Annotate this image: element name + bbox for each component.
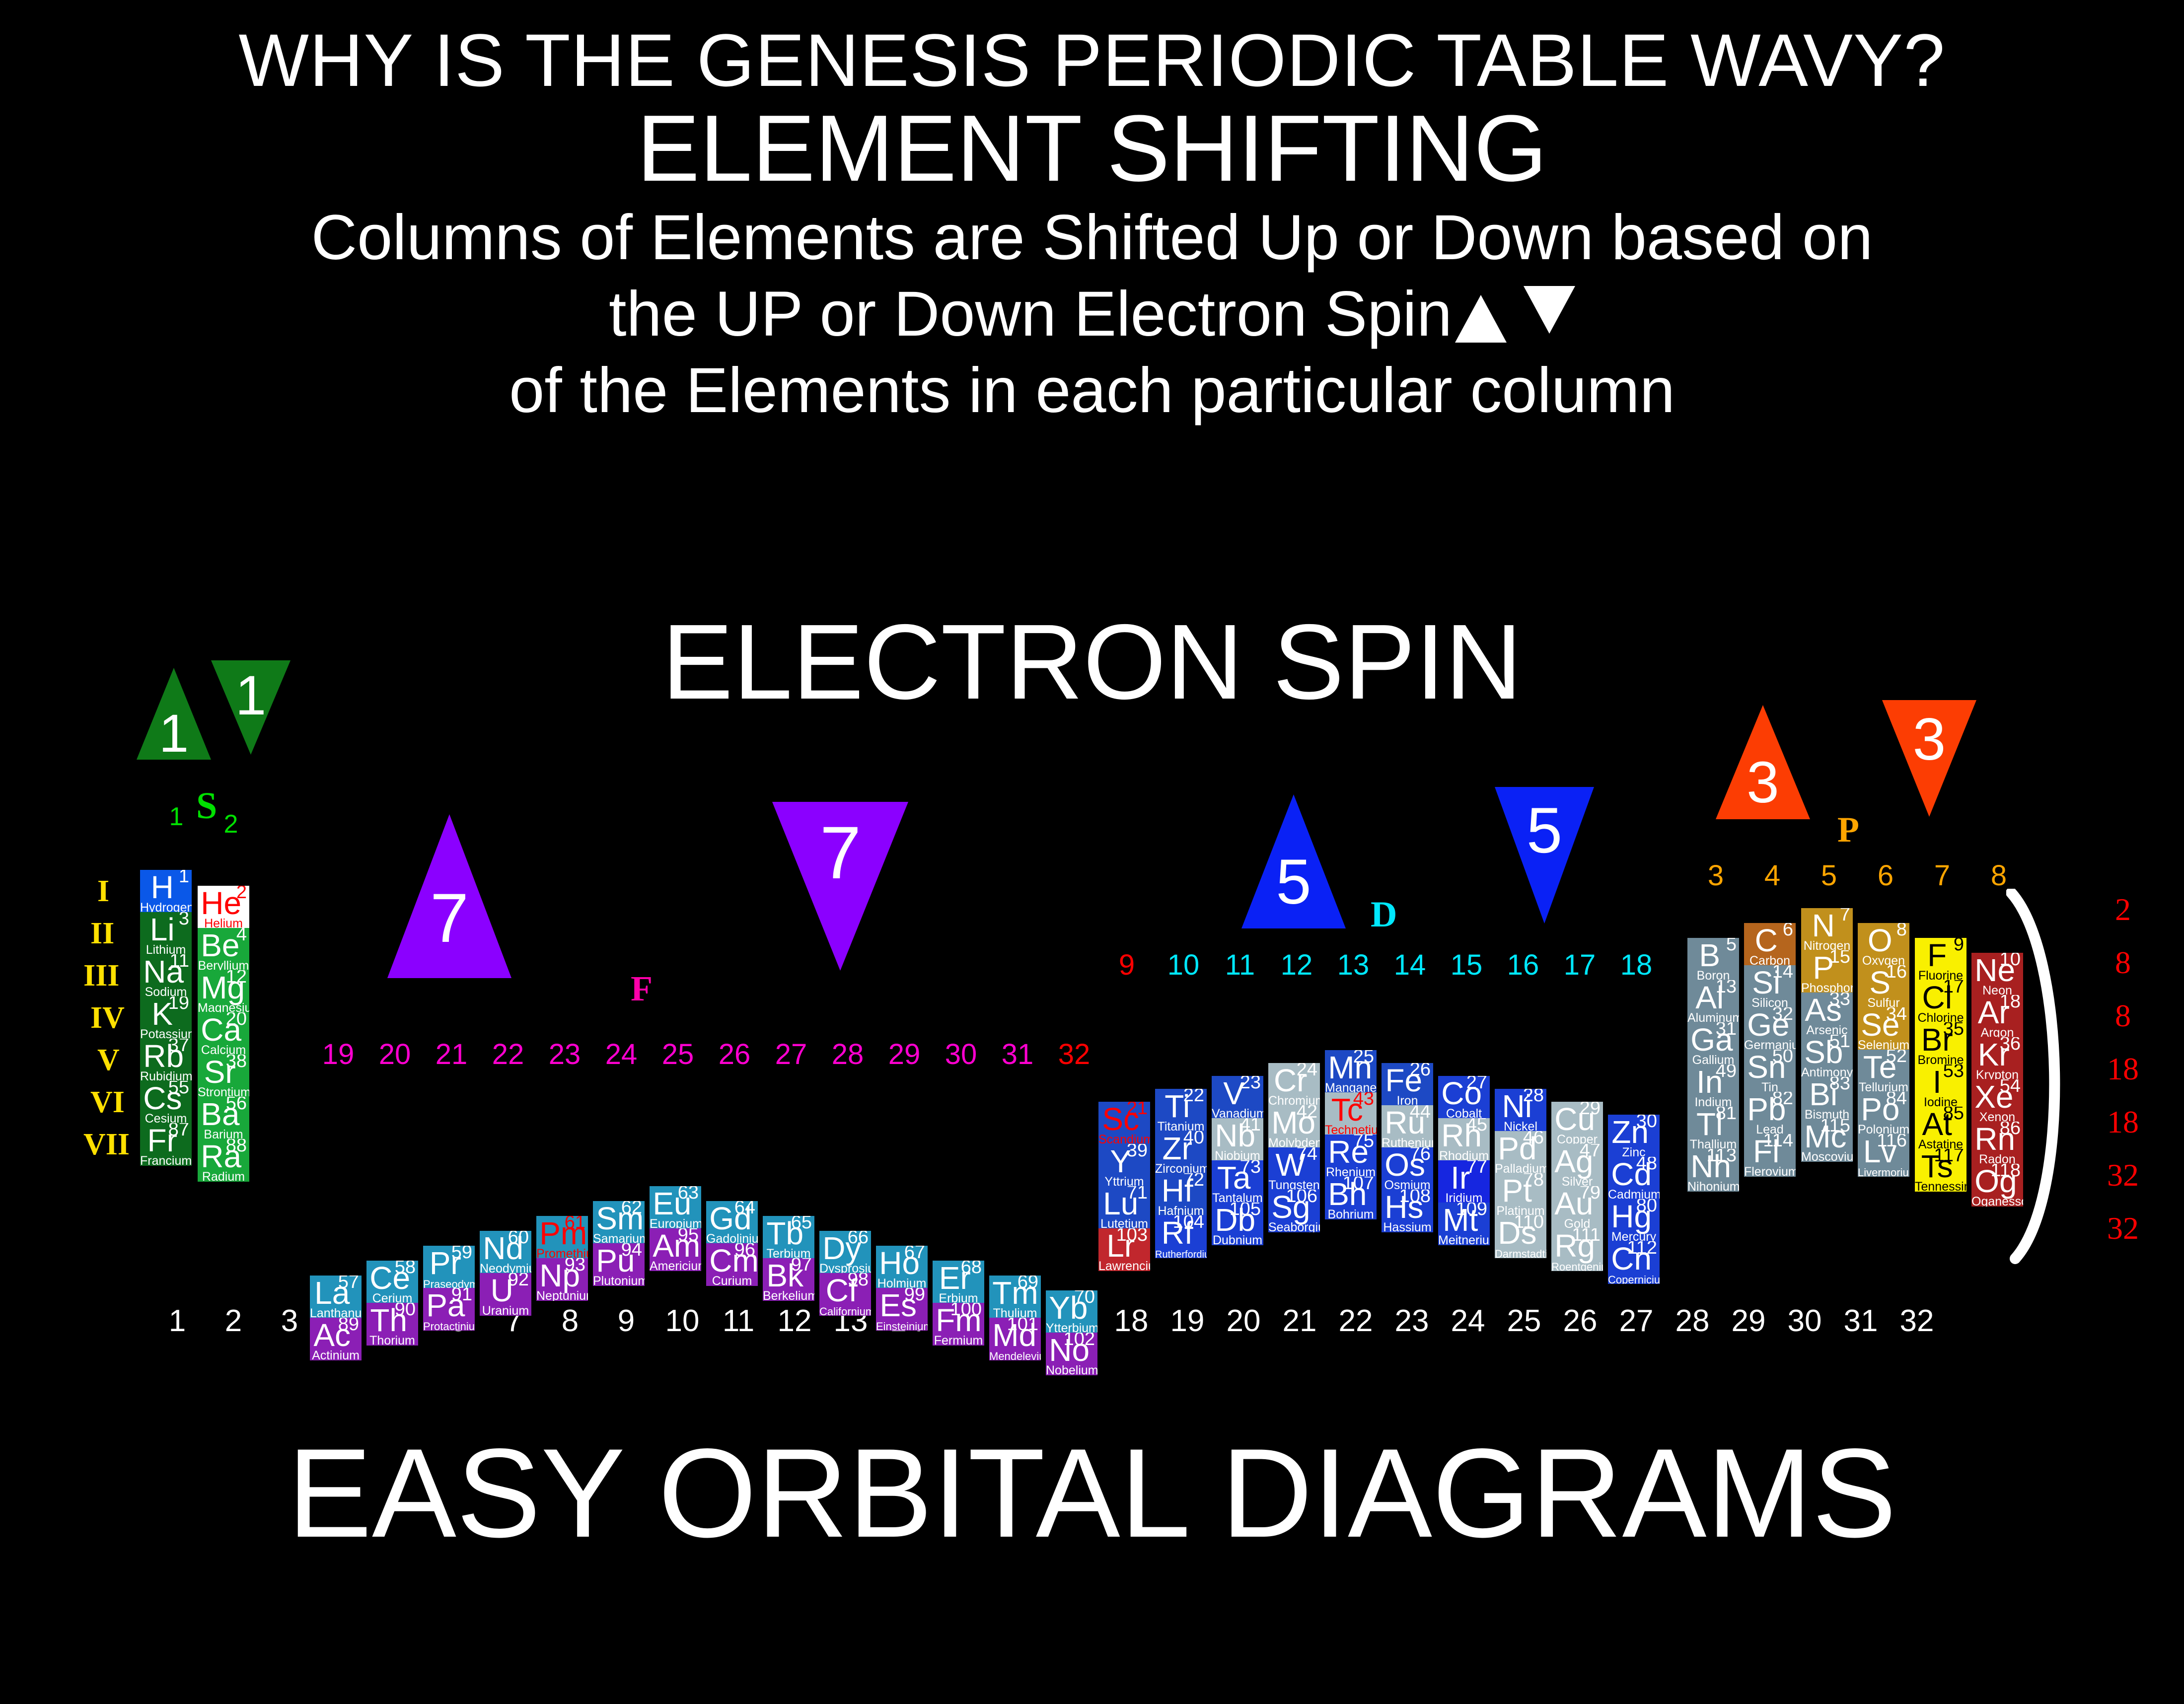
element-cell-au[interactable]: Au79Gold: [1551, 1186, 1603, 1229]
element-cell-lv[interactable]: Lv116Livermorium: [1858, 1134, 1909, 1177]
period-label-3: III: [83, 958, 119, 994]
bottom-column-number-2: 2: [206, 1303, 261, 1339]
element-cell-ba[interactable]: Ba56Barium: [198, 1097, 249, 1139]
atomic-number: 84: [1886, 1092, 1907, 1108]
element-cell-rg[interactable]: Rg111Roentgenium: [1551, 1228, 1603, 1271]
spin-triangle-d-down: 5: [1495, 787, 1594, 923]
element-symbol: B: [1690, 939, 1729, 971]
element-name: Molybdenum: [1268, 1137, 1320, 1148]
d-col-number-14: 14: [1380, 948, 1440, 982]
element-name: Dubnium: [1212, 1234, 1263, 1245]
atomic-number: 38: [226, 1055, 247, 1070]
element-cell-db[interactable]: Db105Dubnium: [1212, 1203, 1263, 1245]
atomic-number: 55: [168, 1081, 189, 1097]
element-cell-ti[interactable]: Ti22Titanium: [1155, 1089, 1207, 1132]
element-cell-at[interactable]: At85Astatine: [1915, 1107, 1966, 1149]
element-cell-li[interactable]: Li3Lithium: [140, 912, 192, 955]
element-cell-re[interactable]: Re75Rhenium: [1325, 1135, 1377, 1177]
triangle-up-icon: [1455, 295, 1507, 343]
atomic-number: 114: [1763, 1134, 1793, 1150]
element-cell-sb[interactable]: Sb51Antimony: [1801, 1035, 1853, 1077]
element-cell-tm[interactable]: Tm69Thulium: [989, 1276, 1041, 1318]
element-name: Magnesium: [198, 1002, 249, 1013]
element-cell-y[interactable]: Y39Yttrium: [1098, 1144, 1150, 1187]
element-cell-al[interactable]: Al13Aluminum: [1687, 980, 1739, 1023]
element-cell-pd[interactable]: Pd46Palladium: [1495, 1131, 1546, 1174]
element-cell-n[interactable]: N7Nitrogen: [1801, 908, 1853, 951]
element-cell-lu[interactable]: Lu71Lutetium: [1098, 1186, 1150, 1229]
element-name: Chlorine: [1915, 1012, 1966, 1023]
element-cell-f[interactable]: F9Fluorine: [1915, 938, 1966, 981]
element-cell-lr[interactable]: Lr103Lawrencium: [1098, 1228, 1150, 1271]
spin-count-label: 5: [1241, 851, 1346, 914]
element-name: Hafnium: [1155, 1205, 1207, 1216]
atomic-number: 112: [1627, 1241, 1657, 1257]
element-cell-i[interactable]: I53Iodine: [1915, 1065, 1966, 1107]
element-name: Manganese: [1325, 1082, 1377, 1093]
atomic-number: 92: [508, 1273, 529, 1289]
element-cell-zn[interactable]: Zn30Zinc: [1608, 1115, 1660, 1157]
bottom-column-number-18: 18: [1104, 1303, 1159, 1339]
element-cell-s[interactable]: S16Sulfur: [1858, 965, 1909, 1008]
element-name: Copper: [1551, 1134, 1603, 1144]
atomic-number: 81: [1716, 1107, 1737, 1123]
element-cell-cf[interactable]: Cf98Californium: [819, 1273, 871, 1316]
f-col-number-24: 24: [591, 1038, 651, 1071]
element-cell-sm[interactable]: Sm62Samarium: [593, 1201, 645, 1244]
element-cell-os[interactable]: Os76Osmium: [1382, 1147, 1433, 1190]
element-name: Curium: [706, 1275, 758, 1286]
element-name: Fermium: [933, 1335, 984, 1346]
element-cell-tb[interactable]: Tb65Terbium: [763, 1216, 814, 1259]
element-cell-bi[interactable]: Bi83Bismuth: [1801, 1077, 1853, 1120]
element-cell-se[interactable]: Se34Selenium: [1858, 1007, 1909, 1050]
p-col-number-3: 3: [1686, 859, 1746, 892]
element-cell-nh[interactable]: Nh113Nihonium: [1687, 1149, 1739, 1192]
block-label-f: F: [631, 968, 653, 1009]
element-cell-sn[interactable]: Sn50Tin: [1744, 1050, 1796, 1092]
element-cell-sc[interactable]: Sc21Scandium: [1098, 1102, 1150, 1144]
element-name: Lead: [1744, 1124, 1796, 1135]
element-cell-po[interactable]: Po84Polonium: [1858, 1092, 1909, 1135]
atomic-number: 73: [1240, 1160, 1261, 1176]
atomic-number: 117: [1934, 1149, 1964, 1165]
f-col-number-30: 30: [931, 1038, 991, 1071]
atomic-number: 3: [179, 912, 189, 928]
element-cell-fl[interactable]: Fl114Flerovium: [1744, 1134, 1796, 1177]
atomic-number: 77: [1466, 1160, 1487, 1176]
element-name: Lanthanum: [310, 1307, 362, 1318]
element-name: Osmium: [1382, 1179, 1433, 1190]
atomic-number: 62: [621, 1201, 642, 1217]
element-cell-c[interactable]: C6Carbon: [1744, 923, 1796, 966]
element-cell-as[interactable]: As33Arsenic: [1801, 993, 1853, 1035]
element-name: Samarium: [593, 1233, 645, 1244]
element-name: Thulium: [989, 1307, 1041, 1318]
atomic-number: 101: [1007, 1318, 1038, 1334]
atomic-number: 109: [1456, 1203, 1487, 1218]
spin-count-label: 1: [211, 668, 291, 723]
atomic-number: 65: [791, 1216, 812, 1232]
element-cell-rb[interactable]: Rb37Rubidium: [140, 1039, 192, 1081]
element-name: Ytterbium: [1046, 1322, 1097, 1333]
element-cell-si[interactable]: Si14Silicon: [1744, 965, 1796, 1008]
atomic-number: 116: [1877, 1134, 1907, 1150]
element-cell-ce[interactable]: Ce58Cerium: [366, 1261, 418, 1303]
element-cell-cd[interactable]: Cd48Cadmium: [1608, 1157, 1660, 1200]
element-name: Sulfur: [1858, 997, 1909, 1008]
element-cell-ac[interactable]: Ac89Actinium: [310, 1318, 362, 1360]
element-name: Thorium: [366, 1335, 418, 1346]
element-name: Mendelevium: [989, 1351, 1041, 1360]
d-col-number-15: 15: [1437, 948, 1496, 982]
element-name: Neptunium: [536, 1290, 588, 1301]
bottom-column-number-29: 29: [1721, 1303, 1776, 1339]
p-col-number-8: 8: [1969, 859, 2029, 892]
atomic-number: 59: [451, 1246, 472, 1262]
bottom-column-number-9: 9: [599, 1303, 654, 1339]
element-cell-cn[interactable]: Cn112Copernicium: [1608, 1241, 1660, 1284]
element-name: Oxygen: [1858, 955, 1909, 966]
atomic-number: 115: [1820, 1119, 1850, 1135]
atomic-number: 29: [1580, 1102, 1601, 1118]
d-col-number-17: 17: [1550, 948, 1609, 982]
element-cell-in[interactable]: In49Indium: [1687, 1065, 1739, 1107]
element-cell-ir[interactable]: Ir77Iridium: [1438, 1160, 1490, 1203]
element-cell-cm[interactable]: Cm96Curium: [706, 1243, 758, 1286]
element-cell-pu[interactable]: Pu94Plutonium: [593, 1243, 645, 1286]
atomic-number: 100: [950, 1303, 982, 1319]
element-cell-v[interactable]: V23Vanadium: [1212, 1076, 1263, 1119]
element-cell-he[interactable]: He2Helium: [198, 886, 249, 928]
atomic-number: 23: [1240, 1076, 1261, 1092]
atomic-number: 113: [1706, 1149, 1737, 1165]
element-cell-nb[interactable]: Nb41Niobium: [1212, 1118, 1263, 1161]
element-cell-ge[interactable]: Ge32Germanium: [1744, 1007, 1796, 1050]
element-name: Cesium: [140, 1113, 192, 1124]
element-name: Germanium: [1744, 1039, 1796, 1050]
atomic-number: 110: [1514, 1215, 1544, 1231]
element-cell-eu[interactable]: Eu63Europium: [650, 1186, 701, 1229]
s-col-number-2: 2: [201, 809, 261, 839]
element-name: Holmium: [876, 1278, 928, 1288]
element-cell-pm[interactable]: Pm61Promethium: [536, 1216, 588, 1259]
element-name: Beryllium: [198, 960, 249, 971]
element-cell-np[interactable]: Np93Neptunium: [536, 1258, 588, 1301]
shell-count-4: 18: [2096, 1051, 2150, 1087]
element-name: Silicon: [1744, 997, 1796, 1008]
element-cell-rh[interactable]: Rh45Rhodium: [1438, 1118, 1490, 1161]
element-cell-ag[interactable]: Ag47Silver: [1551, 1144, 1603, 1187]
d-col-number-12: 12: [1267, 948, 1326, 982]
atomic-number: 44: [1410, 1105, 1431, 1121]
f-col-number-19: 19: [308, 1038, 368, 1071]
element-name: Arsenic: [1801, 1024, 1853, 1035]
atomic-number: 82: [1772, 1092, 1793, 1108]
element-cell-yb[interactable]: Yb70Ytterbium: [1046, 1290, 1097, 1333]
atomic-number: 95: [678, 1228, 699, 1244]
atomic-number: 34: [1886, 1007, 1907, 1023]
atomic-number: 108: [1399, 1190, 1431, 1206]
element-cell-h[interactable]: H1Hydrogen: [140, 870, 192, 913]
shell-bracket-icon: [2006, 889, 2091, 1266]
element-name: Uranium: [480, 1305, 531, 1316]
element-cell-ho[interactable]: Ho67Holmium: [876, 1246, 928, 1288]
element-name: Protactinium: [423, 1321, 475, 1331]
element-name: Rubidium: [140, 1070, 192, 1081]
element-cell-fr[interactable]: Fr87Francium: [140, 1123, 192, 1166]
element-name: Californium: [819, 1306, 871, 1316]
element-cell-gd[interactable]: Gd64Gadolinium: [706, 1201, 758, 1244]
atomic-number: 88: [226, 1139, 247, 1155]
element-cell-ra[interactable]: Ra88Radium: [198, 1139, 249, 1182]
element-cell-hg[interactable]: Hg80Mercury: [1608, 1199, 1660, 1242]
element-name: Carbon: [1744, 955, 1796, 966]
atomic-number: 26: [1410, 1063, 1431, 1079]
element-symbol: F: [1918, 939, 1956, 971]
f-col-number-25: 25: [648, 1038, 708, 1071]
element-cell-cr[interactable]: Cr24Chromium: [1268, 1063, 1320, 1106]
element-cell-mn[interactable]: Mn25Manganese: [1325, 1050, 1377, 1093]
element-name: Berkelium: [763, 1290, 814, 1301]
spin-count-label: 1: [137, 707, 211, 760]
element-cell-bh[interactable]: Bh107Bohrium: [1325, 1177, 1377, 1219]
spin-count-label: 5: [1495, 798, 1594, 862]
atomic-number: 20: [226, 1012, 247, 1028]
atomic-number: 70: [1074, 1290, 1095, 1306]
atomic-number: 41: [1240, 1118, 1261, 1134]
element-cell-pt[interactable]: Pt78Platinum: [1495, 1173, 1546, 1216]
element-name: Silver: [1551, 1176, 1603, 1187]
element-name: Promethium: [536, 1248, 588, 1259]
element-name: Nihonium: [1687, 1181, 1739, 1192]
element-cell-ru[interactable]: Ru44Ruthenium: [1382, 1105, 1433, 1148]
bottom-column-number-1: 1: [150, 1303, 205, 1339]
element-name: Livermorium: [1858, 1167, 1909, 1177]
atomic-number: 16: [1886, 965, 1907, 981]
element-name: Zinc: [1608, 1146, 1660, 1157]
d-col-number-13: 13: [1323, 948, 1383, 982]
shell-count-5: 18: [2096, 1104, 2150, 1140]
atomic-number: 90: [395, 1303, 416, 1319]
element-cell-be[interactable]: Be4Beryllium: [198, 928, 249, 971]
atomic-number: 99: [904, 1288, 925, 1304]
element-cell-la[interactable]: La57Lanthanum: [310, 1276, 362, 1318]
element-cell-p[interactable]: P15Phosphorus: [1801, 950, 1853, 993]
element-cell-zr[interactable]: Zr40Zirconium: [1155, 1131, 1207, 1174]
element-cell-pa[interactable]: Pa91Protactinium: [423, 1288, 475, 1331]
p-col-number-5: 5: [1799, 859, 1859, 892]
element-cell-mt[interactable]: Mt109Meitnerium: [1438, 1203, 1490, 1245]
element-name: Erbium: [933, 1292, 984, 1303]
element-cell-k[interactable]: K19Potassium: [140, 996, 192, 1039]
f-col-number-26: 26: [705, 1038, 764, 1071]
element-cell-tc[interactable]: Tc43Technetium: [1325, 1092, 1377, 1135]
headline-sub-3: of the Elements in each particular colum…: [0, 356, 2184, 425]
atomic-number: 63: [678, 1186, 699, 1202]
bottom-column-number-8: 8: [543, 1303, 597, 1339]
element-cell-th[interactable]: Th90Thorium: [366, 1303, 418, 1346]
element-cell-hf[interactable]: Hf72Hafnium: [1155, 1173, 1207, 1216]
element-cell-b[interactable]: B5Boron: [1687, 938, 1739, 981]
shell-count-3: 8: [2096, 997, 2150, 1034]
headline-question: WHY IS THE GENESIS PERIODIC TABLE WAVY?: [0, 23, 2184, 97]
period-label-5: V: [97, 1043, 120, 1078]
element-symbol: O: [1861, 924, 1899, 956]
atomic-number: 79: [1580, 1186, 1601, 1202]
element-name: Actinium: [310, 1349, 362, 1360]
atomic-number: 32: [1772, 1007, 1793, 1023]
element-name: Moscovium: [1801, 1151, 1853, 1162]
f-col-number-27: 27: [761, 1038, 821, 1071]
bottom-column-number-24: 24: [1441, 1303, 1495, 1339]
element-cell-fm[interactable]: Fm100Fermium: [933, 1303, 984, 1346]
f-col-number-20: 20: [365, 1038, 425, 1071]
headline-sub-1: Columns of Elements are Shifted Up or Do…: [0, 204, 2184, 272]
element-name: Tin: [1744, 1081, 1796, 1092]
element-cell-ca[interactable]: Ca20Calcium: [198, 1012, 249, 1055]
element-name: Lithium: [140, 944, 192, 955]
atomic-number: 14: [1772, 965, 1793, 981]
atomic-number: 67: [904, 1246, 925, 1262]
element-cell-mg[interactable]: Mg12Magnesium: [198, 970, 249, 1013]
element-name: Gold: [1551, 1218, 1603, 1229]
element-cell-te[interactable]: Te52Tellurium: [1858, 1050, 1909, 1092]
atomic-number: 71: [1127, 1186, 1148, 1202]
element-cell-fe[interactable]: Fe26Iron: [1382, 1063, 1433, 1106]
element-name: Yttrium: [1098, 1176, 1150, 1187]
element-name: Hydrogen: [140, 902, 192, 913]
triangle-down-icon: [1524, 286, 1575, 334]
period-label-6: VI: [90, 1085, 125, 1120]
atomic-number: 85: [1943, 1107, 1964, 1123]
element-name: Tungsten: [1268, 1179, 1320, 1190]
element-cell-er[interactable]: Er68Erbium: [933, 1261, 984, 1303]
element-name: Lutetium: [1098, 1218, 1150, 1229]
element-cell-hs[interactable]: Hs108Hassium: [1382, 1190, 1433, 1232]
element-cell-pb[interactable]: Pb82Lead: [1744, 1092, 1796, 1135]
element-cell-u[interactable]: U92Uranium: [480, 1273, 531, 1316]
element-cell-mc[interactable]: Mc115Moscovium: [1801, 1119, 1853, 1162]
element-cell-ds[interactable]: Ds110Darmstadtium: [1495, 1215, 1546, 1258]
headline-block: WHY IS THE GENESIS PERIODIC TABLE WAVY? …: [0, 0, 2184, 426]
atomic-number: 64: [734, 1201, 755, 1217]
period-label-4: IV: [90, 1000, 125, 1036]
element-name: Tennessine: [1915, 1181, 1966, 1192]
element-cell-rf[interactable]: Rf104Rutherfordium: [1155, 1215, 1207, 1258]
atomic-number: 61: [565, 1216, 585, 1232]
atomic-number: 60: [508, 1231, 529, 1247]
atomic-number: 98: [848, 1273, 869, 1289]
atomic-number: 102: [1064, 1333, 1095, 1349]
bottom-column-number-30: 30: [1777, 1303, 1832, 1339]
element-symbol: Be: [201, 929, 239, 961]
bottom-column-number-23: 23: [1384, 1303, 1439, 1339]
atomic-number: 43: [1353, 1092, 1374, 1108]
element-cell-mo[interactable]: Mo42Molybdenum: [1268, 1105, 1320, 1148]
atomic-number: 52: [1886, 1050, 1907, 1065]
atomic-number: 30: [1636, 1115, 1657, 1131]
element-cell-ga[interactable]: Ga31Gallium: [1687, 1022, 1739, 1065]
f-col-number-23: 23: [535, 1038, 594, 1071]
f-col-number-22: 22: [478, 1038, 538, 1071]
element-name: Hassium: [1382, 1221, 1433, 1232]
element-cell-md[interactable]: Md101Mendelevium: [989, 1318, 1041, 1360]
element-cell-pr[interactable]: Pr59Praseodymium: [423, 1246, 475, 1288]
d-col-number-9: 9: [1097, 948, 1157, 982]
element-cell-cl[interactable]: Cl17Chlorine: [1915, 980, 1966, 1023]
element-name: Ruthenium: [1382, 1137, 1433, 1148]
atomic-number: 74: [1297, 1147, 1317, 1163]
element-cell-dy[interactable]: Dy66Dysprosium: [819, 1231, 871, 1274]
element-cell-na[interactable]: Na11Sodium: [140, 954, 192, 997]
d-col-number-16: 16: [1493, 948, 1553, 982]
element-symbol: He: [201, 887, 239, 919]
atomic-number: 8: [1896, 923, 1907, 939]
element-cell-sg[interactable]: Sg106Seaborgium: [1268, 1190, 1320, 1232]
element-name: Calcium: [198, 1044, 249, 1055]
atomic-number: 111: [1572, 1228, 1601, 1244]
atomic-number: 39: [1127, 1144, 1148, 1160]
atomic-number: 42: [1297, 1105, 1317, 1121]
element-cell-tl[interactable]: Tl81Thallium: [1687, 1107, 1739, 1149]
period-label-7: VII: [83, 1127, 130, 1162]
element-cell-co[interactable]: Co27Cobalt: [1438, 1076, 1490, 1119]
element-cell-ta[interactable]: Ta73Tantalum: [1212, 1160, 1263, 1203]
element-name: Titanium: [1155, 1121, 1207, 1132]
element-cell-es[interactable]: Es99Einsteinium: [876, 1288, 928, 1331]
element-cell-cu[interactable]: Cu29Copper: [1551, 1102, 1603, 1144]
element-cell-o[interactable]: O8Oxygen: [1858, 923, 1909, 966]
headline-main: ELEMENT SHIFTING: [0, 101, 2184, 196]
f-col-number-31: 31: [988, 1038, 1047, 1071]
atomic-number: 69: [1018, 1276, 1038, 1291]
atomic-number: 46: [1523, 1131, 1544, 1147]
element-cell-am[interactable]: Am95Americium: [650, 1228, 701, 1271]
shell-count-1: 2: [2096, 891, 2150, 928]
headline-sub-2: the UP or Down Electron Spin: [0, 280, 2184, 349]
element-name: Aluminum: [1687, 1012, 1739, 1023]
atomic-number: 15: [1829, 950, 1850, 966]
atomic-number: 94: [621, 1243, 642, 1259]
element-cell-br[interactable]: Br35Bromine: [1915, 1022, 1966, 1065]
atomic-number: 83: [1829, 1077, 1850, 1093]
element-cell-no[interactable]: No102Nobelium: [1046, 1333, 1097, 1375]
element-name: Fluorine: [1915, 970, 1966, 981]
element-name: Boron: [1687, 970, 1739, 981]
element-cell-cs[interactable]: Cs55Cesium: [140, 1081, 192, 1124]
atomic-number: 33: [1829, 993, 1850, 1008]
p-col-number-7: 7: [1912, 859, 1972, 892]
atomic-number: 89: [338, 1318, 359, 1334]
spin-triangle-s-up: 1: [137, 668, 211, 760]
element-cell-nd[interactable]: Nd60Neodymium: [480, 1231, 531, 1274]
element-cell-w[interactable]: W74Tungsten: [1268, 1147, 1320, 1190]
atomic-number: 47: [1580, 1144, 1601, 1160]
atomic-number: 48: [1636, 1157, 1657, 1173]
element-symbol: H: [143, 871, 181, 903]
element-cell-sr[interactable]: Sr38Strontium: [198, 1055, 249, 1097]
element-cell-ni[interactable]: Ni28Nickel: [1495, 1089, 1546, 1132]
bottom-column-number-31: 31: [1833, 1303, 1888, 1339]
element-name: Sodium: [140, 986, 192, 997]
bottom-column-number-28: 28: [1665, 1303, 1720, 1339]
bottom-column-number-21: 21: [1272, 1303, 1327, 1339]
element-name: Bismuth: [1801, 1109, 1853, 1120]
element-name: Nickel: [1495, 1121, 1546, 1132]
element-cell-ts[interactable]: Ts117Tennessine: [1915, 1149, 1966, 1192]
element-cell-bk[interactable]: Bk97Berkelium: [763, 1258, 814, 1301]
